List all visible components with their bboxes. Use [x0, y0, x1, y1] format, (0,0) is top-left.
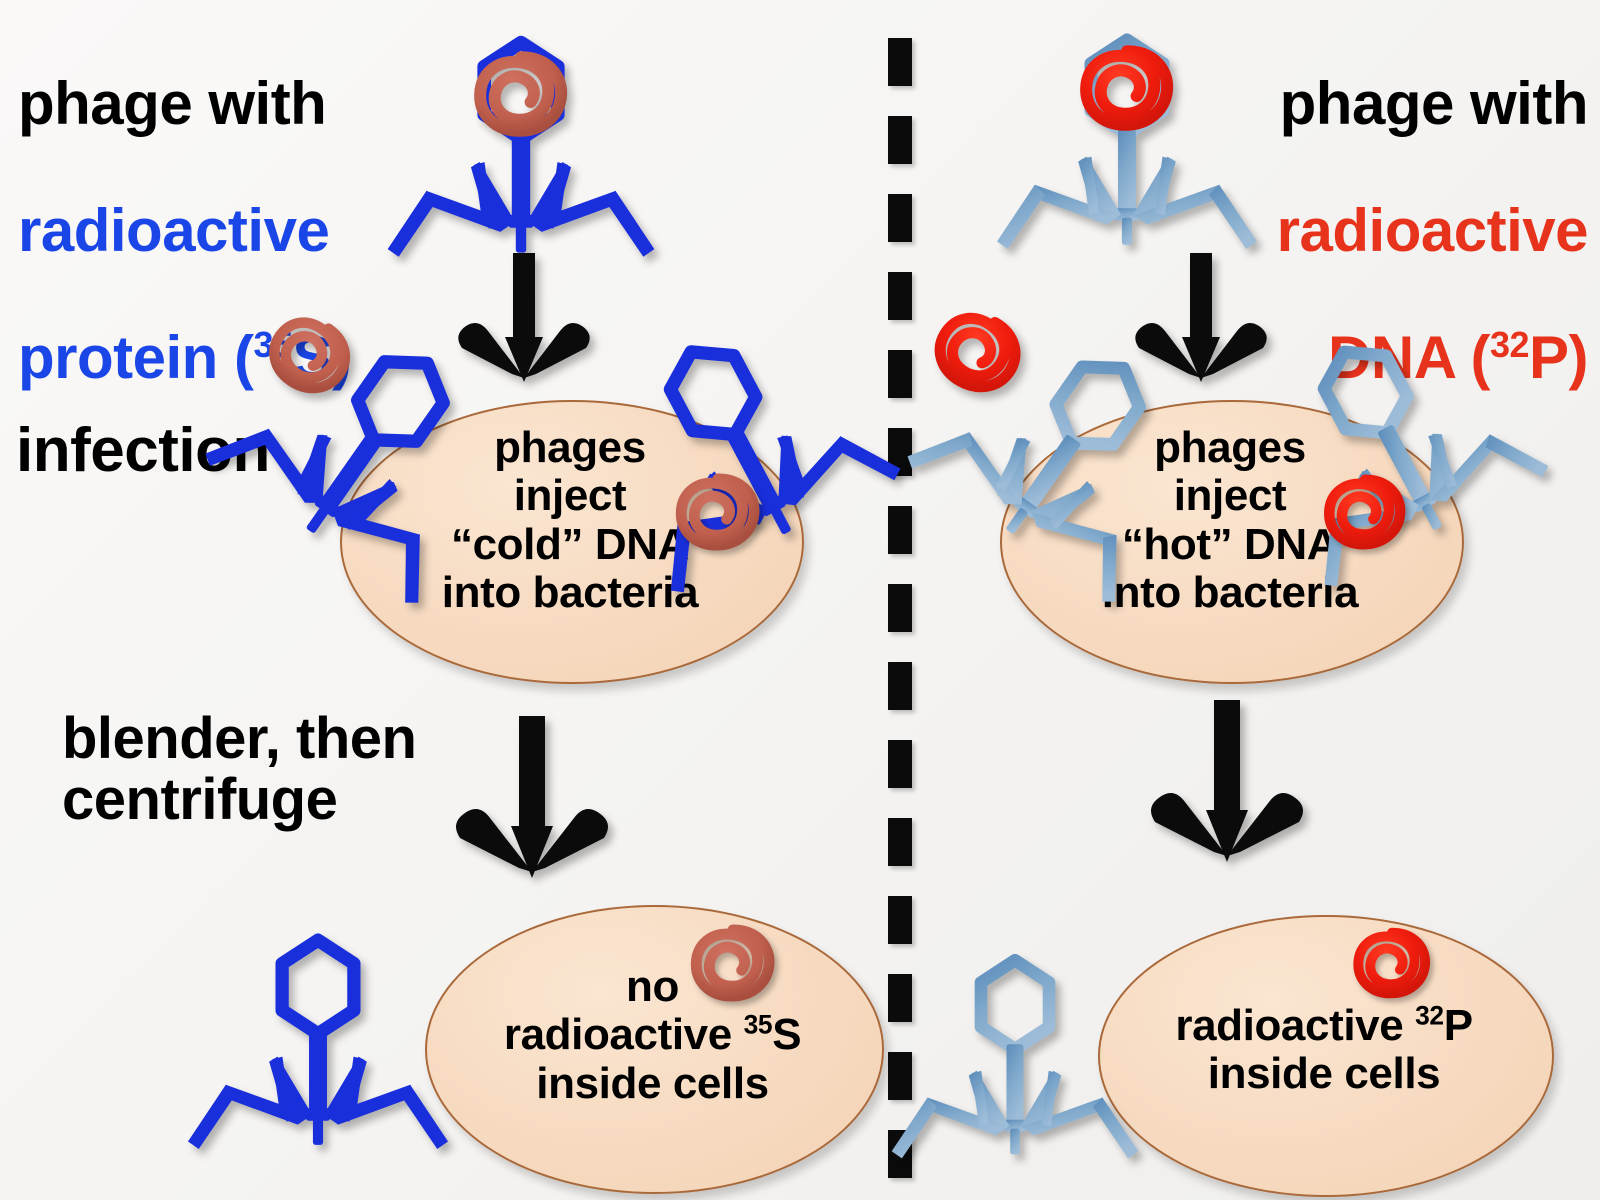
phage-left-top: [388, 43, 654, 257]
dna-coil-icon: [480, 57, 561, 131]
bacteriophage-icon: [1233, 293, 1551, 591]
phage-left-bottom: [189, 940, 448, 1148]
phage-right-bottom: [892, 960, 1138, 1158]
phage-right-attached-b: [1233, 293, 1551, 591]
diagram-canvas: phage with radioactive protein (35S) pha…: [0, 0, 1600, 1200]
bacteriophage-icon: [189, 940, 448, 1148]
down-arrow-icon-right-blender: [1151, 700, 1303, 862]
down-arrow-icon-left-blender: [456, 716, 608, 878]
dna-coil-icon-right-top-bacterium: [1329, 480, 1400, 544]
bacteriophage-icon: [577, 291, 903, 596]
phage-right-attached-a: [904, 296, 1227, 607]
dna-coil-icon-left-bottom-bacterium: [696, 930, 769, 996]
dna-coil-icon: [262, 308, 357, 401]
down-arrow-icon-left-infection: [458, 253, 589, 382]
phage-right-top: [998, 40, 1257, 248]
phage-left-attached-b: [577, 291, 903, 596]
dna-coil-icon-right-bottom-bacterium: [1358, 933, 1425, 994]
bacteriophage-icon: [892, 960, 1138, 1158]
dna-coil-icon: [928, 304, 1027, 400]
dna-coil-icon: [1086, 51, 1167, 125]
down-arrow-icon-right-infection: [1135, 253, 1266, 382]
artwork-layer: [0, 0, 1600, 1200]
dna-coil-icon-left-top-bacterium: [681, 479, 754, 545]
